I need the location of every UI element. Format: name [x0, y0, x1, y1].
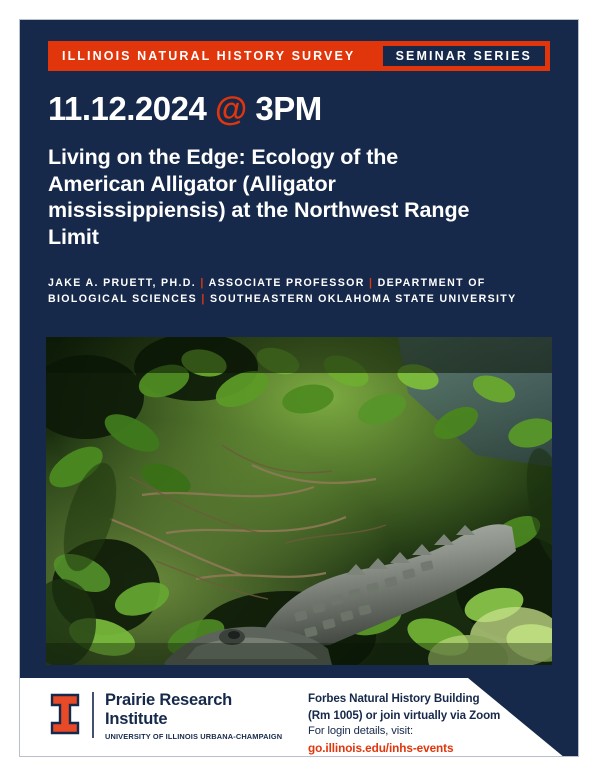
seminar-title: Living on the Edge: Ecology of the Ameri… — [48, 144, 500, 250]
header-banner: ILLINOIS NATURAL HISTORY SURVEY SEMINAR … — [48, 41, 550, 71]
event-time: 3PM — [255, 90, 321, 127]
seminar-series-badge: SEMINAR SERIES — [381, 44, 547, 68]
venue-line-2: (Rm 1005) or join virtually via Zoom — [308, 708, 538, 725]
block-i-icon — [50, 693, 80, 735]
poster-footer: Prairie Research Institute UNIVERSITY OF… — [20, 678, 578, 756]
event-details-link[interactable]: go.illinois.edu/inhs-events — [308, 740, 538, 756]
logo-wordmark: Prairie Research Institute UNIVERSITY OF… — [105, 690, 282, 741]
logo-name-line-2: Institute — [105, 710, 282, 729]
seminar-poster: ILLINOIS NATURAL HISTORY SURVEY SEMINAR … — [20, 20, 578, 756]
logo-divider — [92, 692, 94, 738]
alligator-photo-illustration — [46, 337, 552, 665]
speaker-credentials: JAKE A. PRUETT, PH.D. | ASSOCIATE PROFES… — [48, 275, 562, 307]
separator-icon: | — [369, 277, 373, 289]
venue-line-1: Forbes Natural History Building — [308, 691, 538, 708]
speaker-name: JAKE A. PRUETT, PH.D. — [48, 277, 196, 289]
speaker-institution: SOUTHEASTERN OKLAHOMA STATE UNIVERSITY — [210, 293, 517, 305]
seminar-series-label: SEMINAR SERIES — [396, 49, 532, 63]
organization-label: ILLINOIS NATURAL HISTORY SURVEY — [48, 49, 355, 63]
speaker-role: ASSOCIATE PROFESSOR — [209, 277, 365, 289]
logo-tagline: UNIVERSITY OF ILLINOIS URBANA-CHAMPAIGN — [105, 732, 282, 741]
venue-login-note: For login details, visit: — [308, 724, 538, 740]
separator-icon: | — [201, 293, 205, 305]
event-date: 11.12.2024 — [48, 90, 206, 127]
prairie-research-institute-logo: Prairie Research Institute UNIVERSITY OF… — [50, 690, 282, 741]
at-symbol: @ — [215, 90, 247, 127]
logo-name-line-1: Prairie Research — [105, 691, 282, 710]
alligator-photo — [46, 337, 552, 665]
venue-details: Forbes Natural History Building (Rm 1005… — [308, 691, 538, 756]
separator-icon: | — [200, 277, 204, 289]
event-datetime: 11.12.2024 @ 3PM — [48, 90, 322, 128]
